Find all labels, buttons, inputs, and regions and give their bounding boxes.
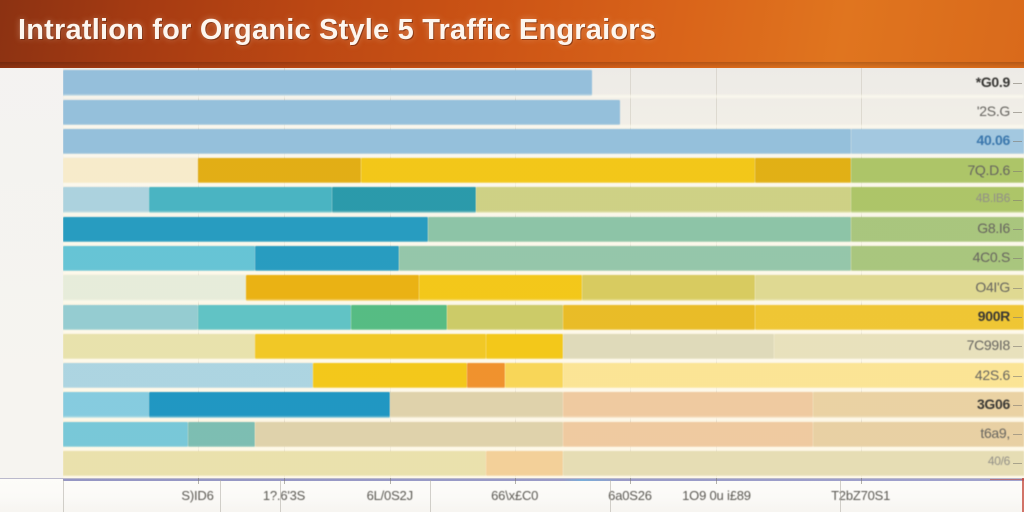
bar-segment[interactable]	[467, 363, 505, 388]
y-tick-mark	[1013, 171, 1022, 172]
x-tick-label: 6a0S26	[608, 488, 652, 503]
bar-row[interactable]	[63, 302, 1024, 331]
bar-segment[interactable]	[755, 158, 851, 183]
bar-segment[interactable]	[188, 422, 255, 447]
y-tick-label: G8.I6	[977, 220, 1010, 236]
boundary-marker-horizontal	[990, 479, 1024, 480]
bar-segment[interactable]	[63, 422, 188, 447]
bar-segment[interactable]	[563, 392, 813, 417]
title-banner: Intratlion for Organic Style 5 Traffic E…	[0, 0, 1024, 68]
bar-segment[interactable]	[198, 158, 361, 183]
bar-row[interactable]	[63, 185, 1024, 214]
bar-segment[interactable]	[63, 392, 149, 417]
y-tick-mark	[1013, 229, 1022, 230]
bar-row[interactable]	[63, 332, 1024, 361]
y-tick-mark	[1013, 405, 1022, 406]
y-axis-panel	[0, 68, 63, 512]
plot-area	[63, 68, 1024, 478]
bar-segment[interactable]	[246, 275, 419, 300]
bar-segment[interactable]	[361, 158, 755, 183]
bar-segment[interactable]	[332, 187, 476, 212]
x-tick-mark	[390, 478, 391, 484]
bar-segment[interactable]	[486, 451, 563, 476]
bar-row[interactable]	[63, 244, 1024, 273]
bar-segment[interactable]	[255, 246, 399, 271]
x-tick-mark	[198, 478, 199, 484]
x-tick-label: 1?.6'3S	[263, 488, 305, 503]
bar-segment[interactable]	[63, 187, 149, 212]
bar-segment[interactable]	[313, 363, 467, 388]
bar-segment[interactable]	[399, 246, 851, 271]
y-tick-label: 4C0.S	[973, 249, 1010, 265]
bar-segment[interactable]	[351, 305, 447, 330]
bar-row[interactable]	[63, 449, 1024, 478]
y-tick-mark	[1013, 200, 1022, 201]
bar-segment[interactable]	[563, 422, 813, 447]
y-tick-label: 4B.IB6	[976, 191, 1010, 205]
x-tick-label: 1O9 0u i£89	[682, 488, 751, 503]
y-tick-mark	[1013, 463, 1022, 464]
x-axis-separator	[610, 480, 611, 512]
bar-segment[interactable]	[63, 334, 255, 359]
bar-segment[interactable]	[63, 217, 428, 242]
bar-segment[interactable]	[63, 70, 592, 95]
bar-row[interactable]	[63, 97, 1024, 126]
bar-row[interactable]	[63, 419, 1024, 448]
y-tick-label: 3G06	[977, 396, 1010, 412]
bar-row[interactable]	[63, 214, 1024, 243]
x-tick-label: S)ID6	[181, 488, 213, 503]
bar-segment[interactable]	[149, 392, 389, 417]
y-tick-label: 7C99I8	[967, 337, 1010, 353]
y-tick-mark	[1013, 141, 1022, 142]
bar-segment[interactable]	[505, 363, 563, 388]
y-tick-label: O4I'G	[975, 279, 1010, 295]
bar-segment[interactable]	[476, 187, 851, 212]
x-tick-mark	[284, 478, 285, 484]
bar-row[interactable]	[63, 156, 1024, 185]
x-tick-mark	[630, 478, 631, 484]
bar-segment[interactable]	[63, 275, 246, 300]
bar-segment[interactable]	[563, 451, 1024, 476]
x-tick-label: 66\x£C0	[491, 488, 538, 503]
x-axis-line	[63, 479, 1024, 481]
bar-segment[interactable]	[255, 334, 486, 359]
y-tick-label: 40.06	[976, 132, 1010, 148]
bar-segment[interactable]	[63, 129, 851, 154]
bar-segment[interactable]	[582, 275, 755, 300]
bar-segment[interactable]	[390, 392, 563, 417]
y-tick-label: '2S.G	[977, 103, 1010, 119]
bar-segment[interactable]	[198, 305, 352, 330]
y-tick-mark	[1013, 112, 1022, 113]
page-title: Intratlion for Organic Style 5 Traffic E…	[18, 14, 656, 47]
bar-segment[interactable]	[63, 305, 198, 330]
y-tick-label: *G0.9	[976, 74, 1010, 90]
bar-segment[interactable]	[63, 100, 620, 125]
y-tick-label: t6a9,	[980, 425, 1010, 441]
y-tick-label: 7Q.D.6	[967, 162, 1010, 178]
bar-row[interactable]	[63, 390, 1024, 419]
bar-segment[interactable]	[563, 334, 774, 359]
x-axis-separator	[63, 480, 64, 512]
bar-segment[interactable]	[447, 305, 562, 330]
bar-row[interactable]	[63, 127, 1024, 156]
bar-segment[interactable]	[419, 275, 582, 300]
x-tick-label: 6L/0S2J	[367, 488, 413, 503]
y-tick-mark	[1013, 346, 1022, 347]
bar-segment[interactable]	[63, 451, 486, 476]
y-tick-mark	[1013, 258, 1022, 259]
y-tick-mark	[1013, 317, 1022, 318]
y-tick-mark	[1013, 288, 1022, 289]
bar-row[interactable]	[63, 361, 1024, 390]
x-axis-separator	[840, 480, 841, 512]
bar-segment[interactable]	[255, 422, 563, 447]
y-tick-mark	[1013, 83, 1022, 84]
y-tick-mark	[1013, 376, 1022, 377]
y-tick-label: 42S.6	[975, 367, 1010, 383]
x-axis-separator	[220, 480, 221, 512]
bar-segment[interactable]	[563, 305, 755, 330]
bar-segment[interactable]	[428, 217, 851, 242]
bar-segment[interactable]	[486, 334, 563, 359]
bar-row[interactable]	[63, 273, 1024, 302]
bar-segment[interactable]	[63, 246, 255, 271]
x-tick-mark	[515, 478, 516, 484]
x-axis-separator	[430, 480, 431, 512]
bar-row[interactable]	[63, 68, 1024, 97]
bar-segment[interactable]	[149, 187, 332, 212]
bar-segment[interactable]	[563, 363, 1024, 388]
x-tick-mark	[861, 478, 862, 484]
chart-body: *G0.9'2S.G40.067Q.D.64B.IB6G8.I64C0.SO4I…	[0, 68, 1024, 512]
bar-segment[interactable]	[63, 158, 198, 183]
y-tick-mark	[1013, 434, 1022, 435]
x-tick-mark	[716, 478, 717, 484]
y-tick-label: 40/6	[988, 454, 1010, 468]
x-axis-separator	[280, 480, 281, 512]
chart-screenshot: Intratlion for Organic Style 5 Traffic E…	[0, 0, 1024, 512]
bar-segment[interactable]	[63, 363, 313, 388]
y-tick-label: 900R	[978, 308, 1010, 324]
